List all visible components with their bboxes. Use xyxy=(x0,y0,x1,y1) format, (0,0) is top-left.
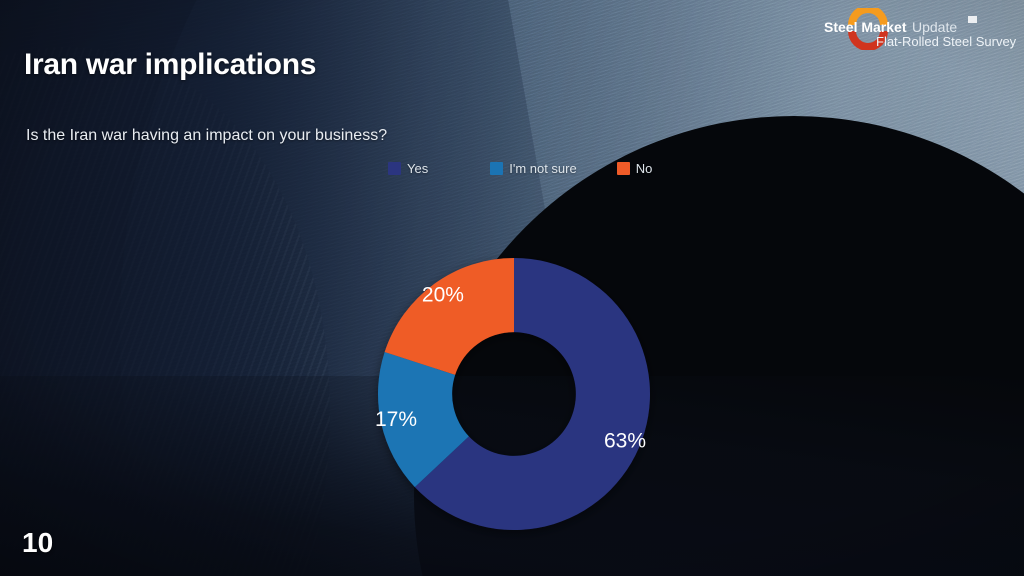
brand-logo: Steel Market Update Flat-Rolled Steel Su… xyxy=(816,8,1016,50)
legend-item-yes[interactable]: Yes xyxy=(388,161,428,176)
donut-label-i-m-not-sure: 17% xyxy=(375,408,417,431)
survey-question: Is the Iran war having an impact on your… xyxy=(26,127,387,145)
legend-label-not-sure: I'm not sure xyxy=(509,161,577,176)
logo-name-bold: Steel Market xyxy=(824,19,907,35)
slide: Steel Market Update Flat-Rolled Steel Su… xyxy=(0,0,1024,576)
legend-label-no: No xyxy=(636,161,653,176)
donut-chart: 63%17%20% xyxy=(378,258,650,530)
donut-label-no: 20% xyxy=(422,284,464,307)
logo-name-light: Update xyxy=(912,19,957,35)
donut-slices xyxy=(378,258,650,530)
donut-label-yes: 63% xyxy=(604,430,646,453)
logo-tagline: Flat-Rolled Steel Survey xyxy=(876,34,1016,49)
page-title: Iran war implications xyxy=(24,48,316,82)
legend-item-no[interactable]: No xyxy=(617,161,653,176)
chart-legend: Yes I'm not sure No xyxy=(388,161,652,176)
legend-label-yes: Yes xyxy=(407,161,428,176)
page-number: 10 xyxy=(22,527,53,559)
legend-swatch-no xyxy=(617,162,630,175)
logo-badge-icon xyxy=(968,16,977,23)
legend-swatch-not-sure xyxy=(490,162,503,175)
legend-swatch-yes xyxy=(388,162,401,175)
legend-item-not-sure[interactable]: I'm not sure xyxy=(490,161,577,176)
donut-slice-no[interactable] xyxy=(385,258,514,375)
